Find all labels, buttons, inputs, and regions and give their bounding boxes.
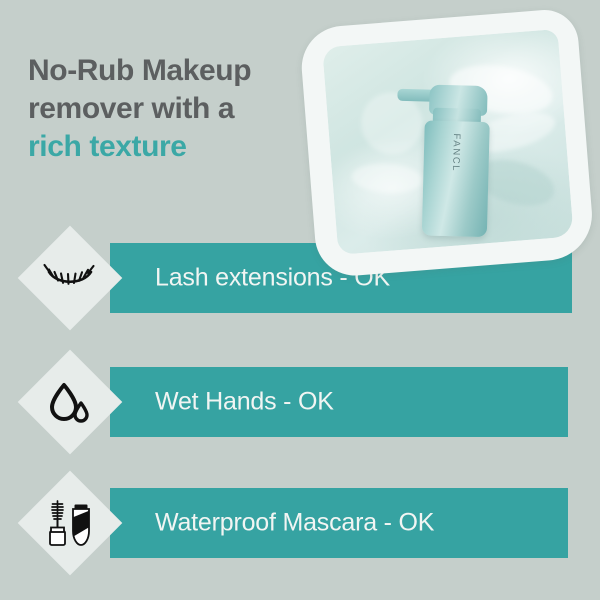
product-photo-image: FANCL: [322, 29, 574, 255]
feature-label: Waterproof Mascara - OK: [155, 509, 434, 538]
feature-label: Wet Hands - OK: [155, 388, 334, 417]
headline-line-1: No-Rub Makeup: [28, 52, 358, 90]
headline-line-3: rich texture: [28, 128, 358, 166]
gel-highlight: [351, 161, 423, 194]
page-title: No-Rub Makeup remover with a rich textur…: [28, 52, 358, 166]
feature-badge-diamond: [18, 226, 123, 331]
product-bottle: FANCL: [418, 72, 493, 238]
feature-badge-diamond: [18, 471, 123, 576]
product-feature-graphic: No-Rub Makeup remover with a rich textur…: [0, 0, 600, 600]
brand-label: FANCL: [450, 133, 462, 172]
bottle-body: FANCL: [421, 121, 489, 238]
feature-badge-diamond: [18, 350, 123, 455]
headline-line-2: remover with a: [28, 90, 358, 128]
feature-bar: Wet Hands - OK: [110, 367, 568, 437]
feature-bar: Waterproof Mascara - OK: [110, 488, 568, 558]
